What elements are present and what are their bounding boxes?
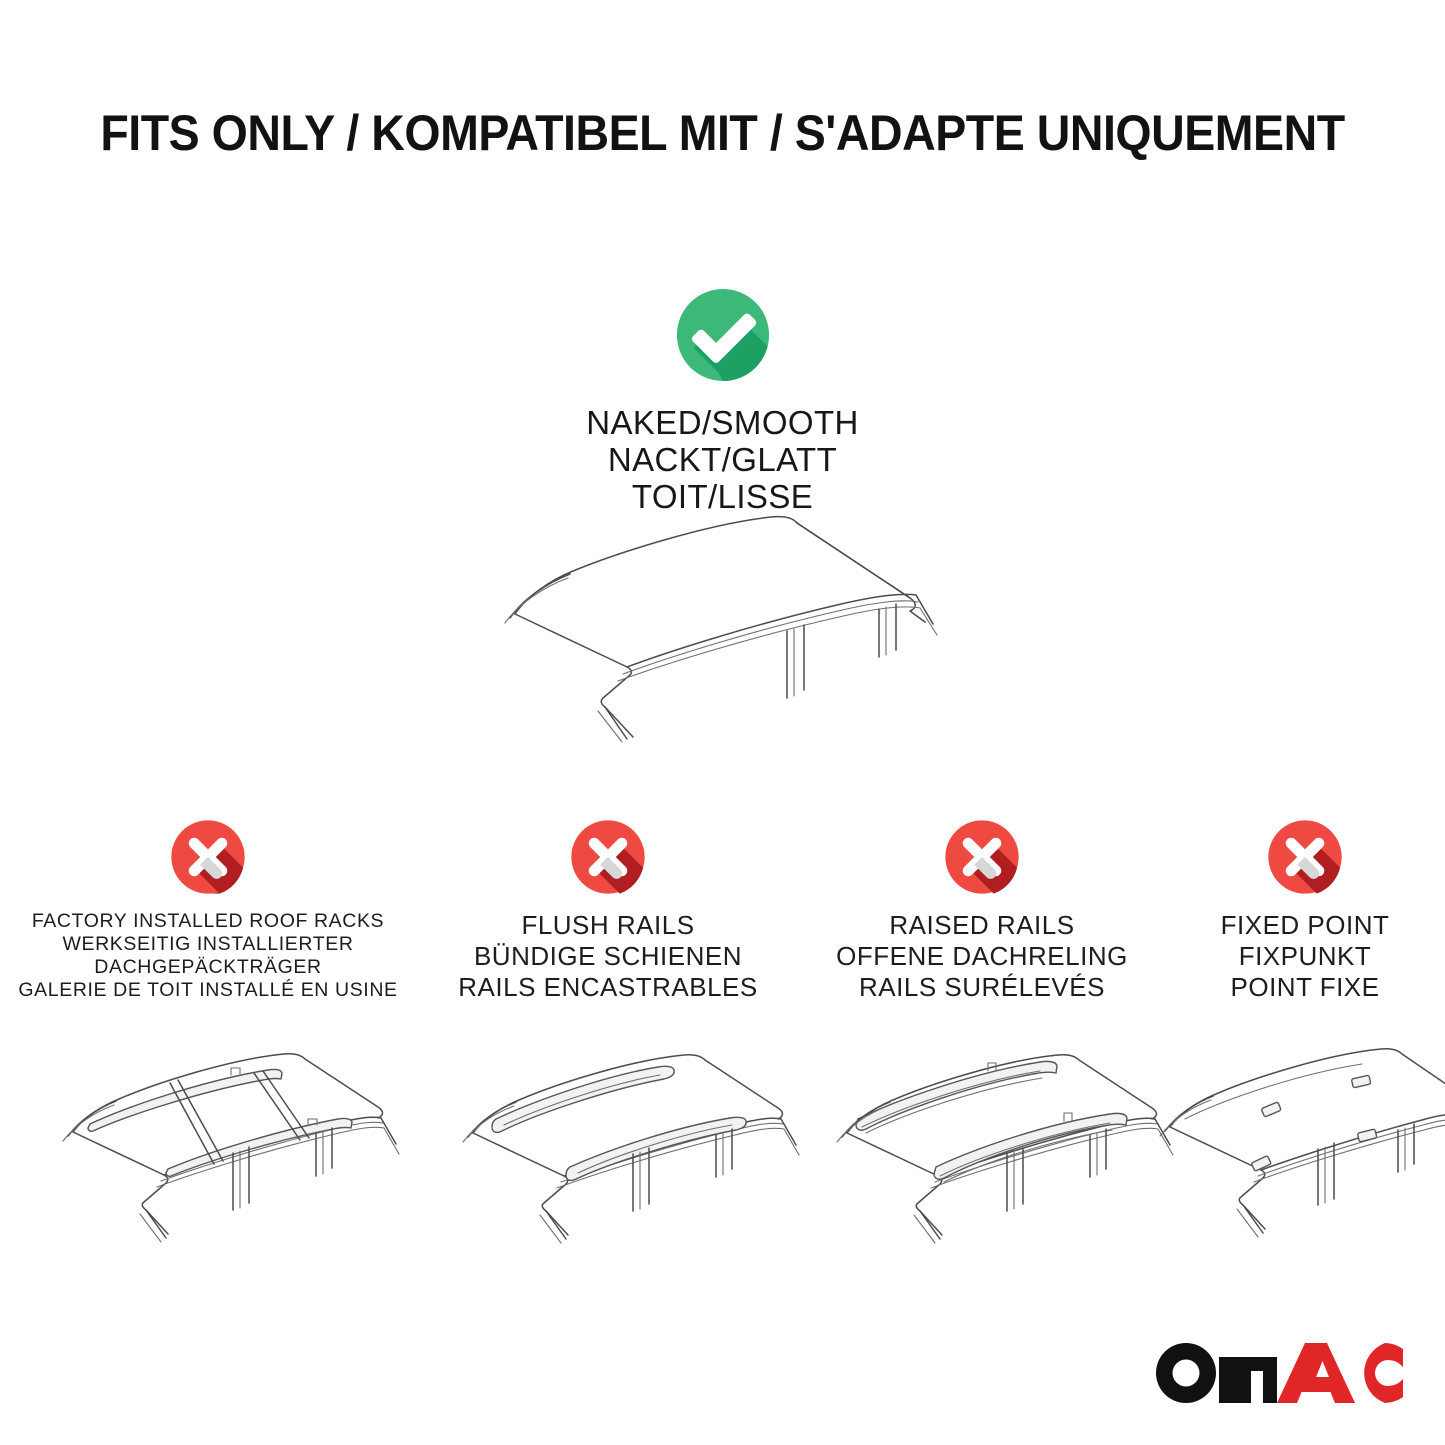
rejected-fitment-grid: FACTORY INSTALLED ROOF RACKS WERKSEITIG …: [0, 818, 1445, 1245]
rejected-caption: FACTORY INSTALLED ROOF RACKS WERKSEITIG …: [18, 910, 397, 1002]
logo-letter-a: [1277, 1343, 1355, 1403]
rejected-line-2: WERKSEITIG INSTALLIERTER: [18, 933, 397, 956]
fixed-point-illustration: [1140, 1015, 1445, 1245]
rejected-line-4: GALERIE DE TOIT INSTALLÉ EN USINE: [18, 979, 397, 1002]
rejected-line-1: FLUSH RAILS: [458, 910, 757, 941]
factory-roof-rack-illustration: [18, 1014, 398, 1244]
page-title: FITS ONLY / KOMPATIBEL MIT / S'ADAPTE UN…: [51, 104, 1395, 162]
x-circle-icon: [169, 818, 247, 896]
rejected-item-flush-rails: FLUSH RAILS BÜNDIGE SCHIENEN RAILS ENCAS…: [422, 818, 794, 1245]
logo-letter-c: [1364, 1343, 1403, 1403]
rejected-caption: FIXED POINT FIXPUNKT POINT FIXE: [1221, 910, 1390, 1003]
rejected-line-3: POINT FIXE: [1221, 972, 1390, 1003]
rejected-line-1: RAISED RAILS: [836, 910, 1128, 941]
rejected-line-1: FIXED POINT: [1221, 910, 1390, 941]
logo-letter-m: [1219, 1357, 1277, 1403]
x-circle-icon: [569, 818, 647, 896]
rejected-line-2: BÜNDIGE SCHIENEN: [458, 941, 757, 972]
rejected-item-fixed-point: FIXED POINT FIXPUNKT POINT FIXE: [1170, 818, 1440, 1245]
x-circle-icon: [943, 818, 1021, 896]
naked-smooth-roof-illustration: [455, 492, 1000, 742]
rejected-caption: FLUSH RAILS BÜNDIGE SCHIENEN RAILS ENCAS…: [458, 910, 757, 1003]
rejected-item-factory-roof-racks: FACTORY INSTALLED ROOF RACKS WERKSEITIG …: [8, 818, 408, 1244]
check-circle-icon: [674, 286, 772, 384]
rejected-item-raised-rails: RAISED RAILS OFFENE DACHRELING RAILS SUR…: [802, 818, 1162, 1245]
rejected-line-1: FACTORY INSTALLED ROOF RACKS: [18, 910, 397, 933]
rejected-line-3: RAILS ENCASTRABLES: [458, 972, 757, 1003]
rejected-caption: RAISED RAILS OFFENE DACHRELING RAILS SUR…: [836, 910, 1128, 1003]
omac-logo: [1153, 1333, 1403, 1407]
raised-rails-illustration: [792, 1015, 1172, 1245]
fitment-infographic: FITS ONLY / KOMPATIBEL MIT / S'ADAPTE UN…: [0, 0, 1445, 1445]
approved-fitment-block: NAKED/SMOOTH NACKT/GLATT TOIT/LISSE: [0, 286, 1445, 515]
logo-letter-o: [1156, 1343, 1216, 1403]
rejected-line-3: DACHGEPÄCKTRÄGER: [18, 956, 397, 979]
flush-rails-illustration: [418, 1015, 798, 1245]
approved-line-1: NAKED/SMOOTH: [586, 404, 859, 441]
rejected-line-3: RAILS SURÉLEVÉS: [836, 972, 1128, 1003]
x-circle-icon: [1266, 818, 1344, 896]
rejected-line-2: OFFENE DACHRELING: [836, 941, 1128, 972]
rejected-line-2: FIXPUNKT: [1221, 941, 1390, 972]
approved-line-2: NACKT/GLATT: [586, 441, 859, 478]
